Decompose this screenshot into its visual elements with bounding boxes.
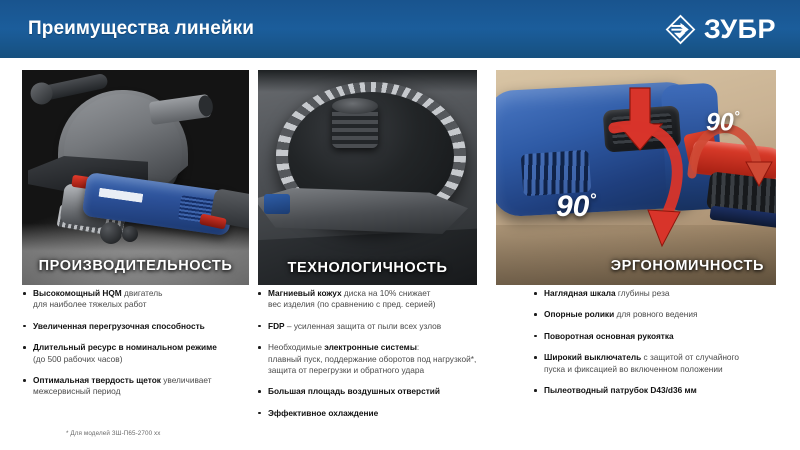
list-item: Пылеотводный патрубок D43/d36 мм	[533, 385, 785, 396]
list-item: Оптимальная твердость щеток увеличивает …	[22, 375, 254, 398]
performance-bullets: Высокомощный HQM двигатель для наиболее …	[22, 288, 254, 408]
ergonomics-bullets: Наглядная шкала глубины реза Опорные рол…	[533, 288, 785, 406]
list-item: Широкий выключатель с защитой от случайн…	[533, 352, 785, 375]
diamond-arrow-logo-icon	[664, 13, 697, 46]
wall-chaser-grinder-photo	[22, 70, 249, 285]
list-item: Магниевый кожух диска на 10% снижает вес…	[257, 288, 507, 311]
list-item: Наглядная шкала глубины реза	[533, 288, 785, 299]
list-item: FDP – усиленная защита от пыли всех узло…	[257, 321, 507, 332]
list-item: Высокомощный HQM двигатель для наиболее …	[22, 288, 254, 311]
list-item: Длительный ресурс в номинальном режиме (…	[22, 342, 254, 365]
footnote: * Для моделей ЗШ-П65-2700 хх	[66, 430, 161, 437]
card-caption-ergonomics: ЭРГОНОМИЧНОСТЬ	[496, 258, 776, 274]
angle-label-lower: 90°	[556, 192, 596, 222]
list-item: Поворотная основная рукоятка	[533, 331, 785, 342]
list-item: Опорные ролики для ровного ведения	[533, 309, 785, 320]
list-item: Необходимые электронные системы: плавный…	[257, 342, 507, 376]
list-item: Увеличенная перегрузочная способность	[22, 321, 254, 332]
feature-cards: ПРОИЗВОДИТЕЛЬНОСТЬ ТЕХНОЛОГИЧНОСТЬ	[0, 70, 800, 285]
card-ergonomics: 90° 90° ЭРГОНОМИЧНОСТЬ	[496, 70, 776, 285]
card-technology: ТЕХНОЛОГИЧНОСТЬ	[258, 70, 477, 285]
slide-header: Преимущества линейки ЗУБР	[0, 0, 800, 58]
card-performance: ПРОИЗВОДИТЕЛЬНОСТЬ	[22, 70, 249, 285]
angle-label-upper: 90°	[706, 110, 739, 135]
rotating-handle-photo: 90° 90°	[496, 70, 776, 285]
card-caption-performance: ПРОИЗВОДИТЕЛЬНОСТЬ	[22, 258, 249, 274]
list-item: Эффективное охлаждение	[257, 408, 507, 419]
page-title: Преимущества линейки	[28, 18, 254, 40]
brand-wordmark: ЗУБР	[704, 16, 776, 43]
technology-bullets: Магниевый кожух диска на 10% снижает вес…	[257, 288, 507, 429]
feature-columns: Высокомощный HQM двигатель для наиболее …	[0, 288, 800, 418]
diamond-disc-closeup-photo	[258, 70, 477, 285]
list-item: Большая площадь воздушных отверстий	[257, 386, 507, 397]
brand-logo: ЗУБР	[664, 13, 776, 46]
card-caption-technology: ТЕХНОЛОГИЧНОСТЬ	[258, 260, 477, 276]
